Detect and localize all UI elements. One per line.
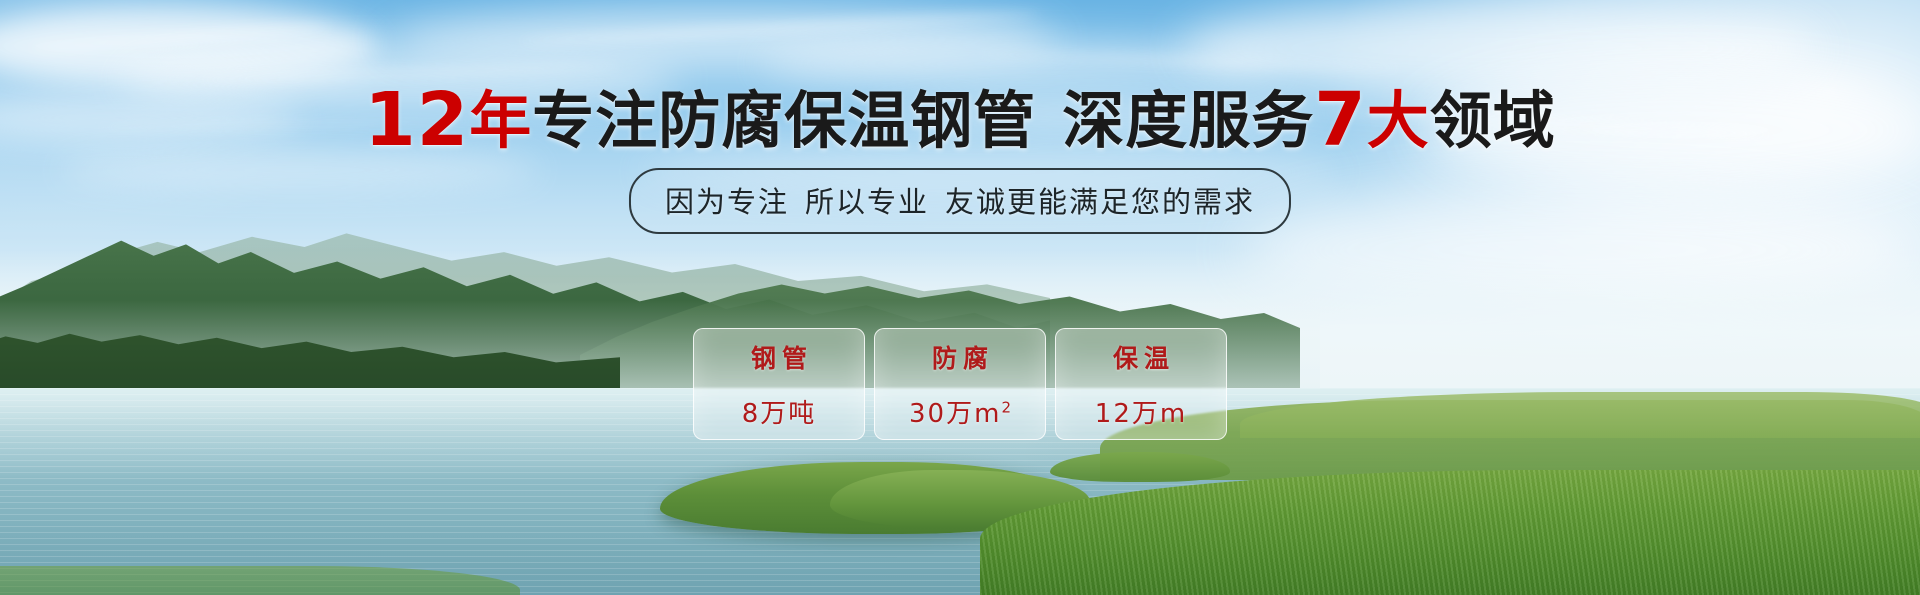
stat-card-insulation[interactable]: 保温 12万m bbox=[1055, 328, 1227, 440]
subtitle-part-1: 因为专注 bbox=[665, 185, 789, 219]
stat-card-value-text: 12万m bbox=[1095, 399, 1187, 429]
stat-card-value-text: 8万吨 bbox=[742, 399, 817, 429]
stat-card-steel-pipe[interactable]: 钢管 8万吨 bbox=[693, 328, 865, 440]
stat-card-anticorrosion[interactable]: 防腐 30万m2 bbox=[874, 328, 1046, 440]
stat-card-group: 钢管 8万吨 防腐 30万m2 保温 12万m bbox=[693, 328, 1227, 440]
headline-tail-text: 领域 bbox=[1430, 84, 1556, 157]
stat-card-title: 钢管 bbox=[745, 339, 813, 375]
stat-card-value-superscript: 2 bbox=[1001, 398, 1011, 416]
hero-banner: 12年专注防腐保温钢管深度服务7大领域 因为专注所以专业友诚更能满足您的需求 钢… bbox=[0, 0, 1920, 595]
stat-card-value: 8万吨 bbox=[742, 393, 817, 430]
headline-fields-unit: 大 bbox=[1367, 84, 1430, 157]
subtitle-part-2: 所以专业 bbox=[805, 185, 929, 219]
subtitle-pill: 因为专注所以专业友诚更能满足您的需求 bbox=[629, 168, 1291, 234]
grass-left-edge bbox=[0, 566, 520, 595]
subtitle-part-3: 友诚更能满足您的需求 bbox=[945, 185, 1255, 219]
small-island bbox=[1050, 452, 1230, 482]
stat-card-title: 保温 bbox=[1107, 339, 1175, 375]
stat-card-title: 防腐 bbox=[926, 339, 994, 375]
headline-years-number: 12 bbox=[364, 77, 469, 163]
headline-years-unit: 年 bbox=[469, 84, 532, 157]
headline-fields-number: 7 bbox=[1314, 77, 1367, 163]
stat-card-value: 30万m2 bbox=[909, 393, 1011, 430]
headline-middle-text: 专注防腐保温钢管 bbox=[532, 84, 1036, 157]
headline: 12年专注防腐保温钢管深度服务7大领域 bbox=[0, 83, 1920, 157]
stat-card-value-text: 30万m bbox=[909, 399, 1001, 429]
headline-second-text: 深度服务 bbox=[1062, 84, 1314, 157]
stat-card-value: 12万m bbox=[1095, 393, 1187, 430]
